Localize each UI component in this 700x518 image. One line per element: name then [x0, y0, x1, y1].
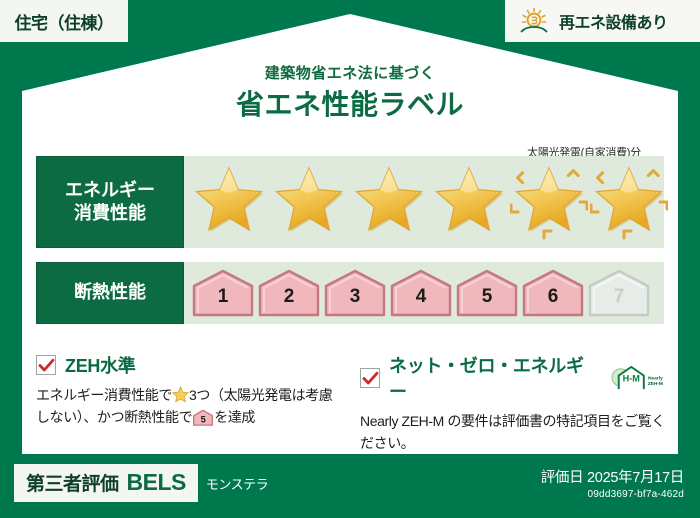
house-grade-5-icon: 5 — [192, 409, 214, 426]
house-grade-icon-filled: 1 — [191, 269, 255, 317]
svg-text:ZEH-M: ZEH-M — [648, 381, 663, 387]
house-grade-icon-filled: 6 — [521, 269, 585, 317]
zeh-standard-body: エネルギー消費性能で3つ（太陽光発電は考慮しない）、かつ断熱性能で5を達成 — [36, 385, 336, 428]
house-grade-icon-filled: 2 — [257, 269, 321, 317]
bels-jp-label: 第三者評価 — [26, 469, 119, 496]
label-title: 省エネ性能ラベル — [0, 83, 700, 123]
bels-en-label: BELS — [127, 469, 186, 496]
star-icon-filled — [190, 163, 268, 241]
label-subtitle: 建築物省エネ法に基づく — [0, 62, 700, 83]
energy-label-line1: エネルギー — [65, 179, 155, 202]
star-icon-filled — [430, 163, 508, 241]
zeh-body-part3: を達成 — [214, 409, 255, 425]
energy-star-track — [184, 156, 664, 248]
energy-label-line2: 消費性能 — [74, 202, 146, 225]
energy-performance-label: 住宅（住棟） 再エネ設備あり 建築物省エネ法に基づく 省エ — [0, 0, 700, 518]
renewable-badge-label: 再エネ設備あり — [559, 9, 668, 33]
svg-text:Nearly: Nearly — [648, 375, 663, 381]
star-icon-filled — [350, 163, 428, 241]
house-grade-icon-filled: 3 — [323, 269, 387, 317]
checkmark-icon — [36, 355, 56, 375]
insulation-performance-label-box: 断熱性能 — [36, 262, 184, 324]
svg-text:H-M: H-M — [623, 373, 640, 383]
insulation-performance-row: 断熱性能 1 2 3 4 5 6 7 — [36, 262, 664, 324]
evaluation-id: 09dd3697-bf7a-462d — [541, 489, 684, 500]
net-zero-energy-section: ネット・ゼロ・エネルギー H-M Nearly ZEH-M Nearly ZEH… — [360, 352, 666, 454]
svg-text:5: 5 — [201, 414, 206, 424]
grade-rating: 1 2 3 4 5 6 7 — [184, 262, 664, 324]
house-grade-icon-empty: 7 — [587, 269, 651, 317]
zeh-standard-section: ZEH水準 エネルギー消費性能で3つ（太陽光発電は考慮しない）、かつ断熱性能で5… — [36, 352, 336, 428]
bels-footer: 第三者評価 BELS モンステラ — [14, 464, 268, 502]
star-icon-filled — [270, 163, 348, 241]
insulation-grade-track: 1 2 3 4 5 6 7 — [184, 262, 664, 324]
building-type-tab: 住宅（住棟） — [0, 0, 128, 42]
evaluation-footer: 評価日 2025年7月17日 09dd3697-bf7a-462d — [541, 466, 684, 500]
nearly-zeh-m-logo-icon: H-M Nearly ZEH-M — [610, 365, 666, 391]
checkmark-icon — [360, 368, 380, 388]
house-grade-icon-filled: 4 — [389, 269, 453, 317]
net-zero-body: Nearly ZEH-M の要件は評価書の特記項目をご覧ください。 — [360, 411, 666, 454]
renewable-equipment-badge: 再エネ設備あり — [505, 0, 700, 42]
house-grade-icon-filled: 5 — [455, 269, 519, 317]
star-icon-solar — [510, 163, 588, 241]
energy-performance-label-box: エネルギー 消費性能 — [36, 156, 184, 248]
property-name: モンステラ — [206, 474, 268, 493]
sun-icon — [517, 7, 551, 35]
zeh-body-part1: エネルギー消費性能で — [36, 387, 172, 403]
insulation-label: 断熱性能 — [74, 281, 146, 304]
zeh-standard-heading: ZEH水準 — [36, 352, 336, 378]
star-icon-solar — [590, 163, 668, 241]
star-rating — [184, 156, 664, 248]
energy-performance-row: エネルギー 消費性能 — [36, 156, 664, 248]
building-type-label: 住宅（住棟） — [15, 9, 114, 34]
zeh-standard-title: ZEH水準 — [65, 352, 136, 378]
bels-badge: 第三者評価 BELS — [14, 464, 198, 502]
evaluation-date: 評価日 2025年7月17日 — [541, 466, 684, 487]
star-icon — [172, 386, 189, 403]
net-zero-heading: ネット・ゼロ・エネルギー H-M Nearly ZEH-M — [360, 352, 666, 404]
net-zero-title: ネット・ゼロ・エネルギー — [389, 352, 597, 404]
